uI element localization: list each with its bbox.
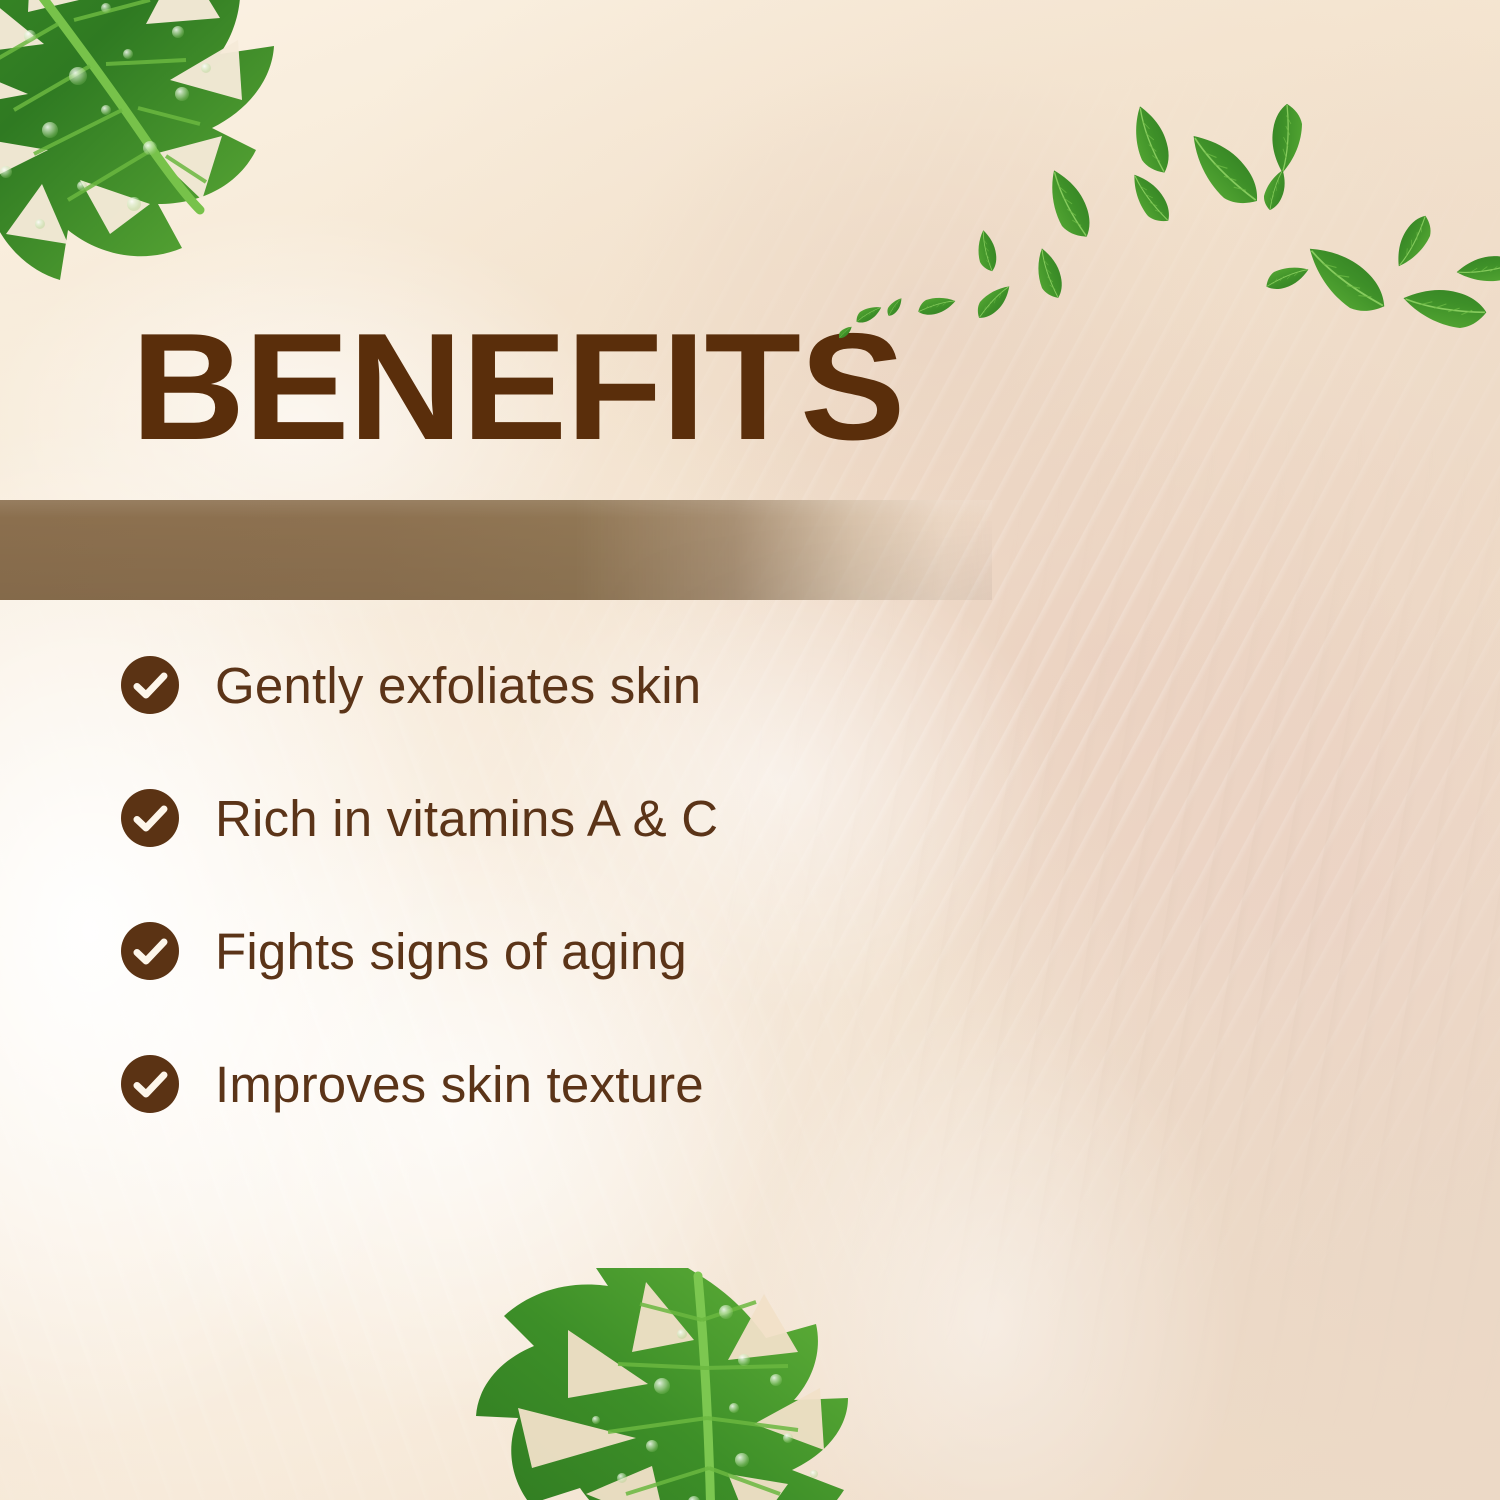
monstera-leaf-icon	[476, 1268, 946, 1500]
benefit-label: Improves skin texture	[215, 1059, 704, 1110]
list-item: Improves skin texture	[121, 1055, 1021, 1113]
benefits-list: Gently exfoliates skin Rich in vitamins …	[121, 656, 1021, 1113]
list-item: Rich in vitamins A & C	[121, 789, 1021, 847]
flying-mint-leaves-icon	[830, 50, 1500, 350]
check-circle-icon	[121, 1055, 179, 1113]
benefit-label: Rich in vitamins A & C	[215, 793, 718, 844]
check-circle-icon	[121, 922, 179, 980]
list-item: Fights signs of aging	[121, 922, 1021, 980]
benefit-label: Gently exfoliates skin	[215, 660, 701, 711]
benefit-label: Fights signs of aging	[215, 926, 687, 977]
check-circle-icon	[121, 656, 179, 714]
page-title: BENEFITS	[131, 311, 904, 463]
list-item: Gently exfoliates skin	[121, 656, 1021, 714]
section-divider-highlight	[0, 500, 992, 600]
check-circle-icon	[121, 789, 179, 847]
benefits-poster: BENEFITS Gently exfoliates skin Rich in …	[0, 0, 1500, 1500]
monstera-leaf-icon	[0, 0, 352, 334]
